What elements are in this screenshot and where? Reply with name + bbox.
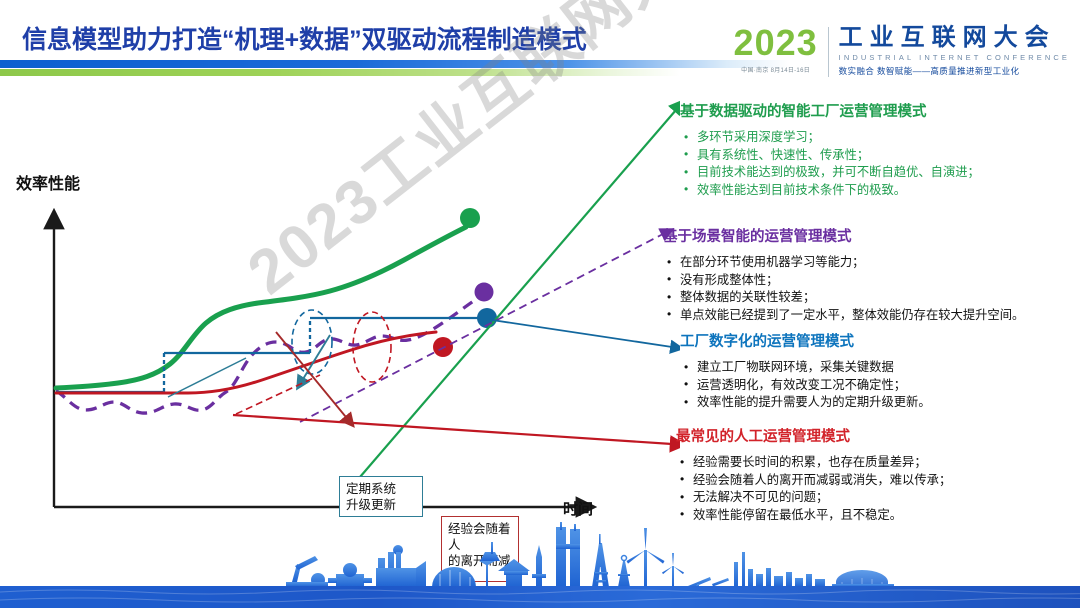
- city-skyline-graphic: [0, 522, 1080, 608]
- experience-callout-arrow: [276, 332, 350, 422]
- list-item: 经验会随着人的离开而减弱或消失，难以传承；: [676, 472, 1076, 490]
- experience-callout-connector: [236, 375, 320, 414]
- annotation-block-data-driven: 基于数据驱动的智能工厂运营管理模式 多环节采用深度学习； 具有系统性、快速性、传…: [680, 103, 1080, 199]
- list-item: 在部分环节使用机器学习等能力；: [663, 254, 1063, 272]
- annotation-title-manual-operations: 最常见的人工运营管理模式: [676, 428, 1076, 447]
- series-purple-scenario: [56, 298, 478, 413]
- list-item: 运营透明化，有效改变工况不确定性；: [680, 377, 1080, 395]
- page-title: 信息模型助力打造“机理+数据”双驱动流程制造模式: [22, 20, 587, 56]
- logo-chinese-title: 工业互联网大会: [839, 24, 1070, 51]
- annotation-title-scenario-intelligence: 基于场景智能的运营管理模式: [663, 228, 1063, 247]
- list-item: 具有系统性、快速性、传承性；: [680, 147, 1080, 165]
- annotation-title-data-driven: 基于数据驱动的智能工厂运营管理模式: [680, 103, 1080, 122]
- footer-water-band: [0, 586, 1080, 608]
- chart-axes: [54, 227, 578, 507]
- upgrade-callout: 定期系统 升级更新: [339, 476, 423, 517]
- purple-leader-arrow: [300, 234, 663, 422]
- red-leader-arrow: [233, 415, 672, 444]
- list-item: 单点效能已经提到了一定水平，整体效能仍存在较大提升空间。: [663, 307, 1063, 325]
- bottom-decoration: [0, 522, 1080, 608]
- list-item: 经验需要长时间的积累，也存在质量差异；: [676, 454, 1076, 472]
- skyline-silhouette: [286, 522, 894, 589]
- logo-slogan: 数实融合 数智赋能——高质量推进新型工业化: [839, 65, 1070, 77]
- list-item: 效率性能的提升需要人为的定期升级更新。: [680, 394, 1080, 412]
- slide-header: 信息模型助力打造“机理+数据”双驱动流程制造模式 2023 中国·南京 8月14…: [0, 0, 1080, 92]
- series-green-data-driven: [56, 227, 466, 388]
- annotation-bullets-digital-factory: 建立工厂物联网环境，采集关键数据 运营透明化，有效改变工况不确定性； 效率性能的…: [680, 359, 1080, 412]
- annotation-block-scenario-intelligence: 基于场景智能的运营管理模式 在部分环节使用机器学习等能力； 没有形成整体性； 整…: [663, 228, 1063, 324]
- list-item: 多环节采用深度学习；: [680, 129, 1080, 147]
- blue-leader-arrow: [492, 320, 672, 347]
- header-rule-blue: [0, 60, 790, 68]
- list-item: 没有形成整体性；: [663, 272, 1063, 290]
- chart-area: 效率性能 时间 定期系统 升级更新 经验会随着人 的离开而减弱 或消失: [0, 92, 680, 532]
- header-rule-green: [0, 69, 680, 76]
- annotation-block-manual-operations: 最常见的人工运营管理模式 经验需要长时间的积累，也存在质量差异； 经验会随着人的…: [676, 428, 1076, 524]
- y-axis-label: 效率性能: [16, 170, 80, 194]
- list-item: 目前技术能达到的极致，并可不断自趋优、自演进；: [680, 164, 1080, 182]
- list-item: 无法解决不可见的问题；: [676, 489, 1076, 507]
- logo-year: 2023: [734, 24, 818, 62]
- annotation-block-digital-factory: 工厂数字化的运营管理模式 建立工厂物联网环境，采集关键数据 运营透明化，有效改变…: [680, 333, 1080, 412]
- annotation-title-digital-factory: 工厂数字化的运营管理模式: [680, 333, 1080, 352]
- series-purple-endpoint: [475, 283, 494, 302]
- list-item: 效率性能达到目前技术条件下的极致。: [680, 182, 1080, 200]
- list-item: 建立工厂物联网环境，采集关键数据: [680, 359, 1080, 377]
- logo-text-block: 工业互联网大会 INDUSTRIAL INTERNET CONFERENCE 数…: [829, 24, 1070, 77]
- logo-year-block: 2023 中国·南京 8月14日-16日: [734, 24, 828, 74]
- logo-year-subtitle: 中国·南京 8月14日-16日: [741, 65, 810, 74]
- annotation-bullets-scenario-intelligence: 在部分环节使用机器学习等能力； 没有形成整体性； 整体数据的关联性较差； 单点效…: [663, 254, 1063, 324]
- annotation-bullets-data-driven: 多环节采用深度学习； 具有系统性、快速性、传承性； 目前技术能达到的极致，并可不…: [680, 129, 1080, 199]
- list-item: 整体数据的关联性较差；: [663, 289, 1063, 307]
- series-green-endpoint: [460, 208, 480, 228]
- x-axis-label: 时间: [563, 498, 593, 519]
- logo-english-title: INDUSTRIAL INTERNET CONFERENCE: [839, 53, 1070, 62]
- annotation-bullets-manual-operations: 经验需要长时间的积累，也存在质量差异； 经验会随着人的离开而减弱或消失，难以传承…: [676, 454, 1076, 524]
- efficiency-vs-time-chart: [0, 92, 680, 532]
- green-leader-arrow: [360, 110, 676, 477]
- conference-logo: 2023 中国·南京 8月14日-16日 工业互联网大会 INDUSTRIAL …: [734, 24, 1070, 86]
